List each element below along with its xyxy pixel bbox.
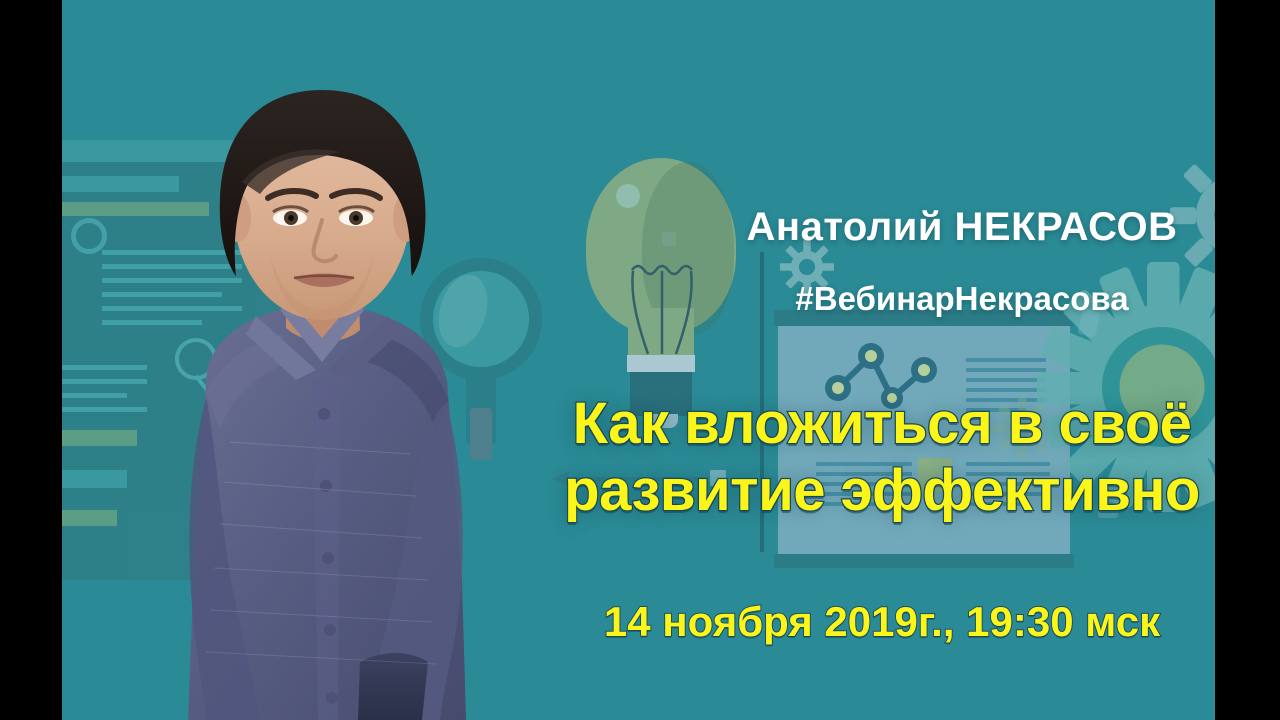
headline: Как вложиться в своё развитие эффективно: [482, 390, 1215, 525]
headline-line-1: Как вложиться в своё: [573, 391, 1192, 456]
headline-line-2: развитие эффективно: [482, 457, 1215, 524]
webinar-poster: Анатолий НЕКРАСОВ #ВебинарНекрасова Как …: [0, 0, 1280, 720]
poster-text: Анатолий НЕКРАСОВ #ВебинарНекрасова Как …: [62, 0, 1215, 720]
letterbox-bar-right: [1215, 0, 1280, 720]
letterbox-bar-left: [0, 0, 62, 720]
hashtag-label: #ВебинарНекрасова: [662, 280, 1215, 318]
speaker-name: Анатолий НЕКРАСОВ: [662, 205, 1215, 250]
video-stage: Анатолий НЕКРАСОВ #ВебинарНекрасова Как …: [62, 0, 1215, 720]
event-datetime: 14 ноября 2019г., 19:30 мск: [482, 598, 1215, 646]
